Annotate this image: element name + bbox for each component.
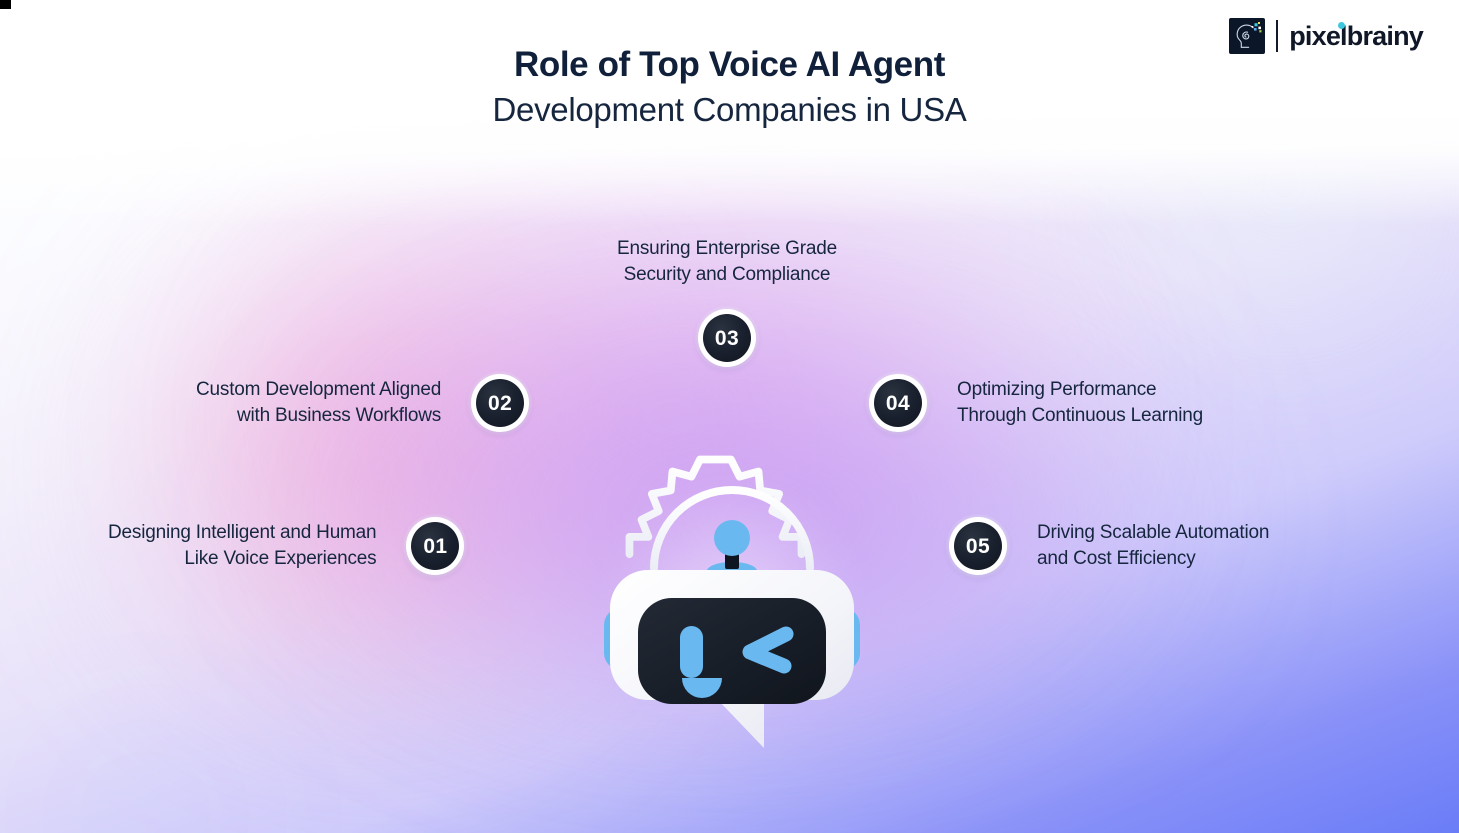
step-badge-01-number: 01 [423, 536, 447, 557]
page-title-line2: Development Companies in USA [0, 89, 1459, 132]
step-badge-05-core: 05 [954, 522, 1002, 570]
step-item-05[interactable]: 05 Driving Scalable Automation and Cost … [945, 513, 1269, 579]
step-badge-03[interactable]: 03 [694, 305, 760, 371]
step-item-01-line1: Designing Intelligent and Human [108, 520, 376, 546]
brand-wordmark-text: pixelbrainy [1289, 21, 1423, 51]
step-item-02-line2: with Business Workflows [196, 403, 441, 429]
voice-ai-robot-gear-icon [596, 438, 868, 758]
infographic-canvas: pixelbrainy Role of Top Voice AI Agent D… [0, 0, 1459, 833]
brand-logo[interactable]: pixelbrainy [1229, 18, 1423, 54]
step-item-05-line1: Driving Scalable Automation [1037, 520, 1269, 546]
step-item-04-label: Optimizing Performance Through Continuou… [957, 377, 1203, 429]
step-item-05-line2: and Cost Efficiency [1037, 546, 1269, 572]
step-badge-01[interactable]: 01 [402, 513, 468, 579]
step-badge-05[interactable]: 05 [945, 513, 1011, 579]
step-item-01-line2: Like Voice Experiences [108, 546, 376, 572]
step-item-03[interactable]: Ensuring Enterprise Grade Security and C… [566, 236, 888, 371]
step-badge-04[interactable]: 04 [865, 370, 931, 436]
step-item-04[interactable]: 04 Optimizing Performance Through Contin… [865, 370, 1203, 436]
step-badge-03-number: 03 [715, 328, 739, 349]
page-title: Role of Top Voice AI Agent Development C… [0, 44, 1459, 132]
step-badge-04-number: 04 [886, 393, 910, 414]
step-badge-02-number: 02 [488, 393, 512, 414]
step-badge-02[interactable]: 02 [467, 370, 533, 436]
step-item-04-line1: Optimizing Performance [957, 377, 1203, 403]
step-item-01[interactable]: Designing Intelligent and Human Like Voi… [108, 513, 468, 579]
brand-accent-dot-icon [1338, 22, 1345, 29]
corner-artifact [0, 0, 11, 9]
step-item-03-label: Ensuring Enterprise Grade Security and C… [617, 236, 837, 288]
logo-divider [1276, 20, 1278, 52]
step-badge-02-core: 02 [476, 379, 524, 427]
step-badge-04-core: 04 [874, 379, 922, 427]
step-item-03-line1: Ensuring Enterprise Grade [617, 236, 837, 262]
brain-spiral-head-icon [1229, 18, 1265, 54]
step-item-02-label: Custom Development Aligned with Business… [196, 377, 441, 429]
step-item-01-label: Designing Intelligent and Human Like Voi… [108, 520, 376, 572]
step-item-03-line2: Security and Compliance [617, 262, 837, 288]
step-item-05-label: Driving Scalable Automation and Cost Eff… [1037, 520, 1269, 572]
step-badge-05-number: 05 [966, 536, 990, 557]
step-item-02-line1: Custom Development Aligned [196, 377, 441, 403]
step-item-02[interactable]: Custom Development Aligned with Business… [196, 370, 533, 436]
brand-wordmark: pixelbrainy [1289, 23, 1423, 50]
step-item-04-line2: Through Continuous Learning [957, 403, 1203, 429]
